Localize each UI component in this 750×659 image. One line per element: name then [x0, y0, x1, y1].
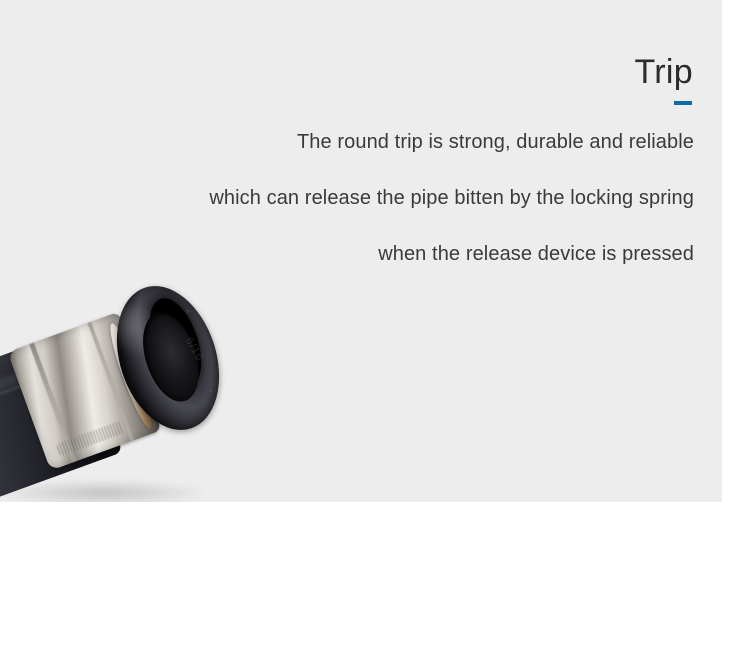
- description-line-1: The round trip is strong, durable and re…: [34, 131, 694, 153]
- product-feature-banner: Trip The round trip is strong, durable a…: [0, 0, 750, 659]
- collar-dimple: [207, 388, 213, 394]
- description-line-2: which can release the pipe bitten by the…: [34, 187, 694, 209]
- product-photo: 6/16: [0, 272, 240, 502]
- page-title: Trip: [34, 52, 694, 92]
- accent-rule-divider: [674, 101, 692, 105]
- copy-block: Trip The round trip is strong, durable a…: [34, 52, 694, 265]
- collar-dimple: [184, 308, 190, 314]
- hero-panel: Trip The round trip is strong, durable a…: [0, 0, 722, 502]
- description-line-3: when the release device is pressed: [34, 243, 694, 265]
